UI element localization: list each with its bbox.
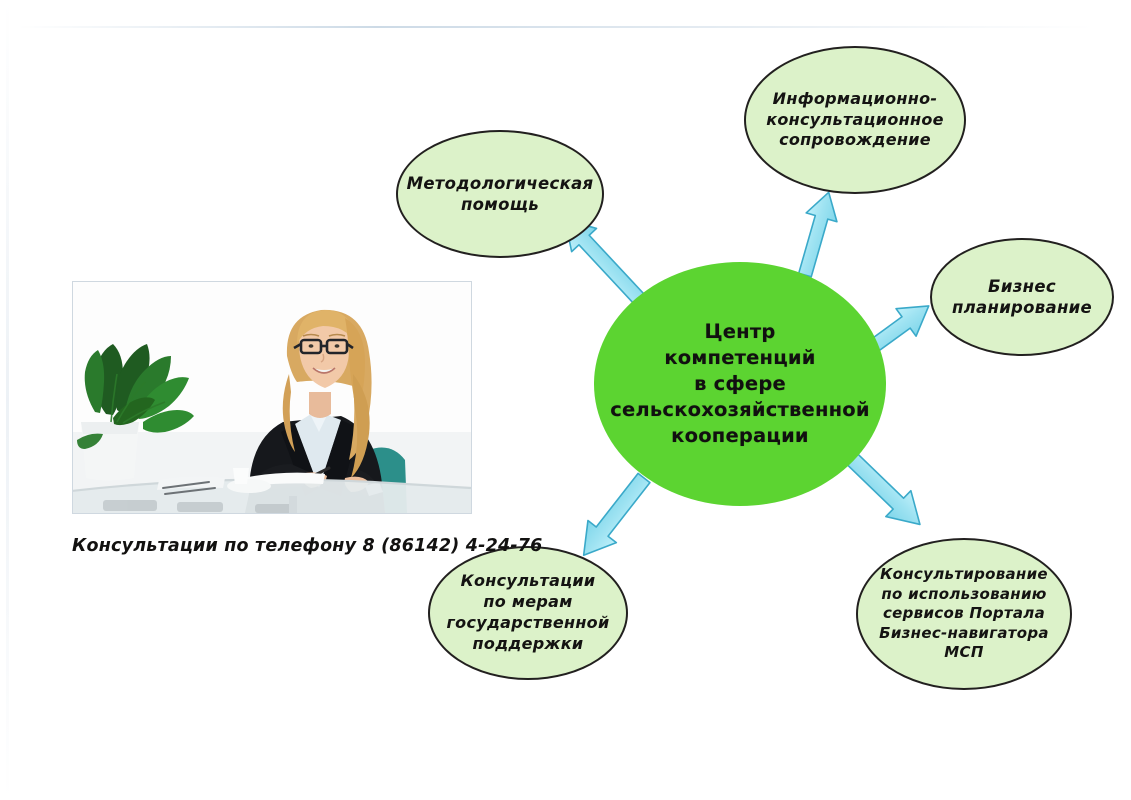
node-portal-business-navigator: Консультирование по использованию сервис… bbox=[856, 538, 1072, 690]
phone-consultation-caption: Консультации по телефону 8 (86142) 4-24-… bbox=[72, 536, 502, 556]
node-information-consulting-support-label: Информационно- консультационное сопровож… bbox=[756, 89, 954, 151]
consultant-photo-frame bbox=[72, 281, 472, 514]
arrow-center-to-state-support-measures bbox=[569, 467, 658, 566]
center-node-label: Центр компетенций в сфере сельскохозяйст… bbox=[610, 319, 870, 450]
arrow-center-to-information-consulting-support bbox=[790, 188, 844, 279]
consultant-photo bbox=[73, 282, 471, 513]
node-state-support-measures: Консультации по мерам государственной по… bbox=[428, 546, 628, 680]
node-business-planning-label: Бизнес планирование bbox=[942, 276, 1102, 319]
node-methodological-help-label: Методологическая помощь bbox=[397, 173, 604, 216]
poster-page: Центр компетенций в сфере сельскохозяйст… bbox=[0, 0, 1131, 800]
center-node: Центр компетенций в сфере сельскохозяйст… bbox=[594, 262, 886, 506]
node-state-support-measures-label: Консультации по мерам государственной по… bbox=[437, 571, 620, 654]
node-portal-business-navigator-label: Консультирование по использованию сервис… bbox=[869, 565, 1059, 663]
node-business-planning: Бизнес планирование bbox=[930, 238, 1114, 356]
node-information-consulting-support: Информационно- консультационное сопровож… bbox=[744, 46, 966, 194]
node-methodological-help: Методологическая помощь bbox=[396, 130, 604, 258]
